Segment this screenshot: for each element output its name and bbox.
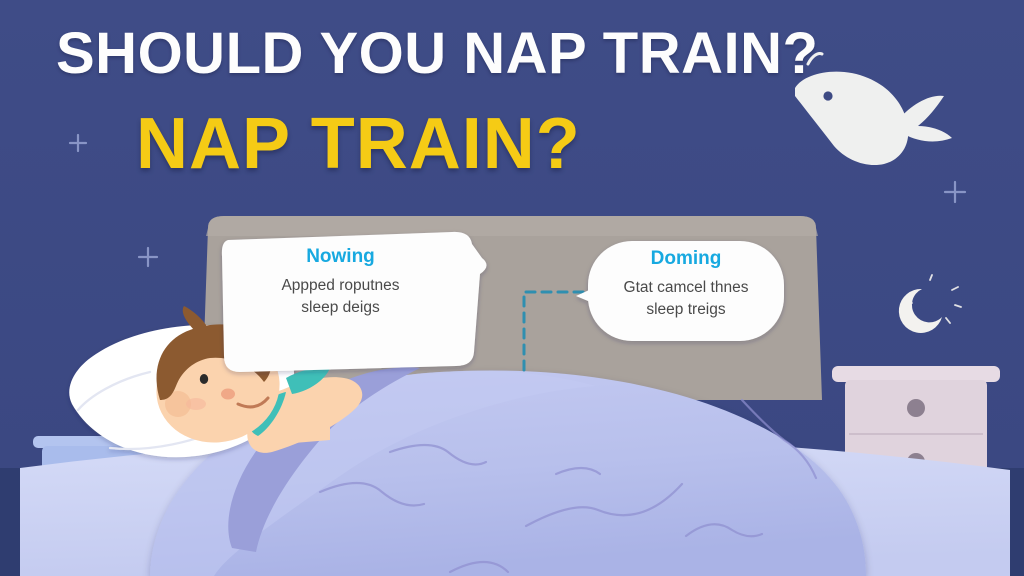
bedroom-scene-illustration <box>0 0 1024 576</box>
child-eye <box>200 374 208 384</box>
callout-right-line2: sleep treigs <box>596 299 776 321</box>
illustration-canvas: SHOULD YOU NAP TRAIN? NAP TRAIN? Nowing … <box>0 0 1024 576</box>
callout-right-title: Doming <box>596 249 776 270</box>
callout-left-line2: sleep deigs <box>243 297 438 319</box>
headboard-top-edge <box>206 216 818 236</box>
child-cheek <box>186 398 206 410</box>
callout-right-line1: Gtat camcel thnes <box>596 277 776 299</box>
callout-left-title: Nowing <box>243 247 438 268</box>
callout-right[interactable]: Doming Gtat camcel thnes sleep treigs <box>596 249 776 322</box>
callout-left-line1: Appped roputnes <box>243 275 438 297</box>
callout-left[interactable]: Nowing Appped roputnes sleep deigs <box>243 247 438 320</box>
child-nose <box>221 389 235 400</box>
